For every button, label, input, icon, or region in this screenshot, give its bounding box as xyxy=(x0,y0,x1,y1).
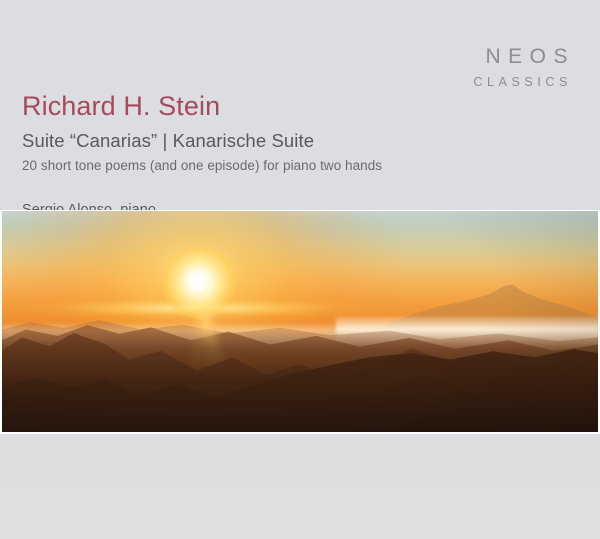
label-logo: NEOS CLASSICS xyxy=(473,46,568,89)
work-subtitle: 20 short tone poems (and one episode) fo… xyxy=(22,157,492,175)
sun-disc xyxy=(185,268,211,297)
foreground-dark-mass xyxy=(2,330,598,432)
cover-photograph xyxy=(2,211,598,432)
album-cover: NEOS CLASSICS Richard H. Stein Suite “Ca… xyxy=(0,0,600,539)
work-title: Suite “Canarias” | Kanarische Suite xyxy=(22,129,492,152)
cover-photo-frame xyxy=(0,210,600,434)
label-name: NEOS xyxy=(473,46,575,67)
label-tagline: CLASSICS xyxy=(473,76,572,89)
composer-name: Richard H. Stein xyxy=(22,92,492,122)
album-text-block: Richard H. Stein Suite “Canarias” | Kana… xyxy=(22,92,492,220)
